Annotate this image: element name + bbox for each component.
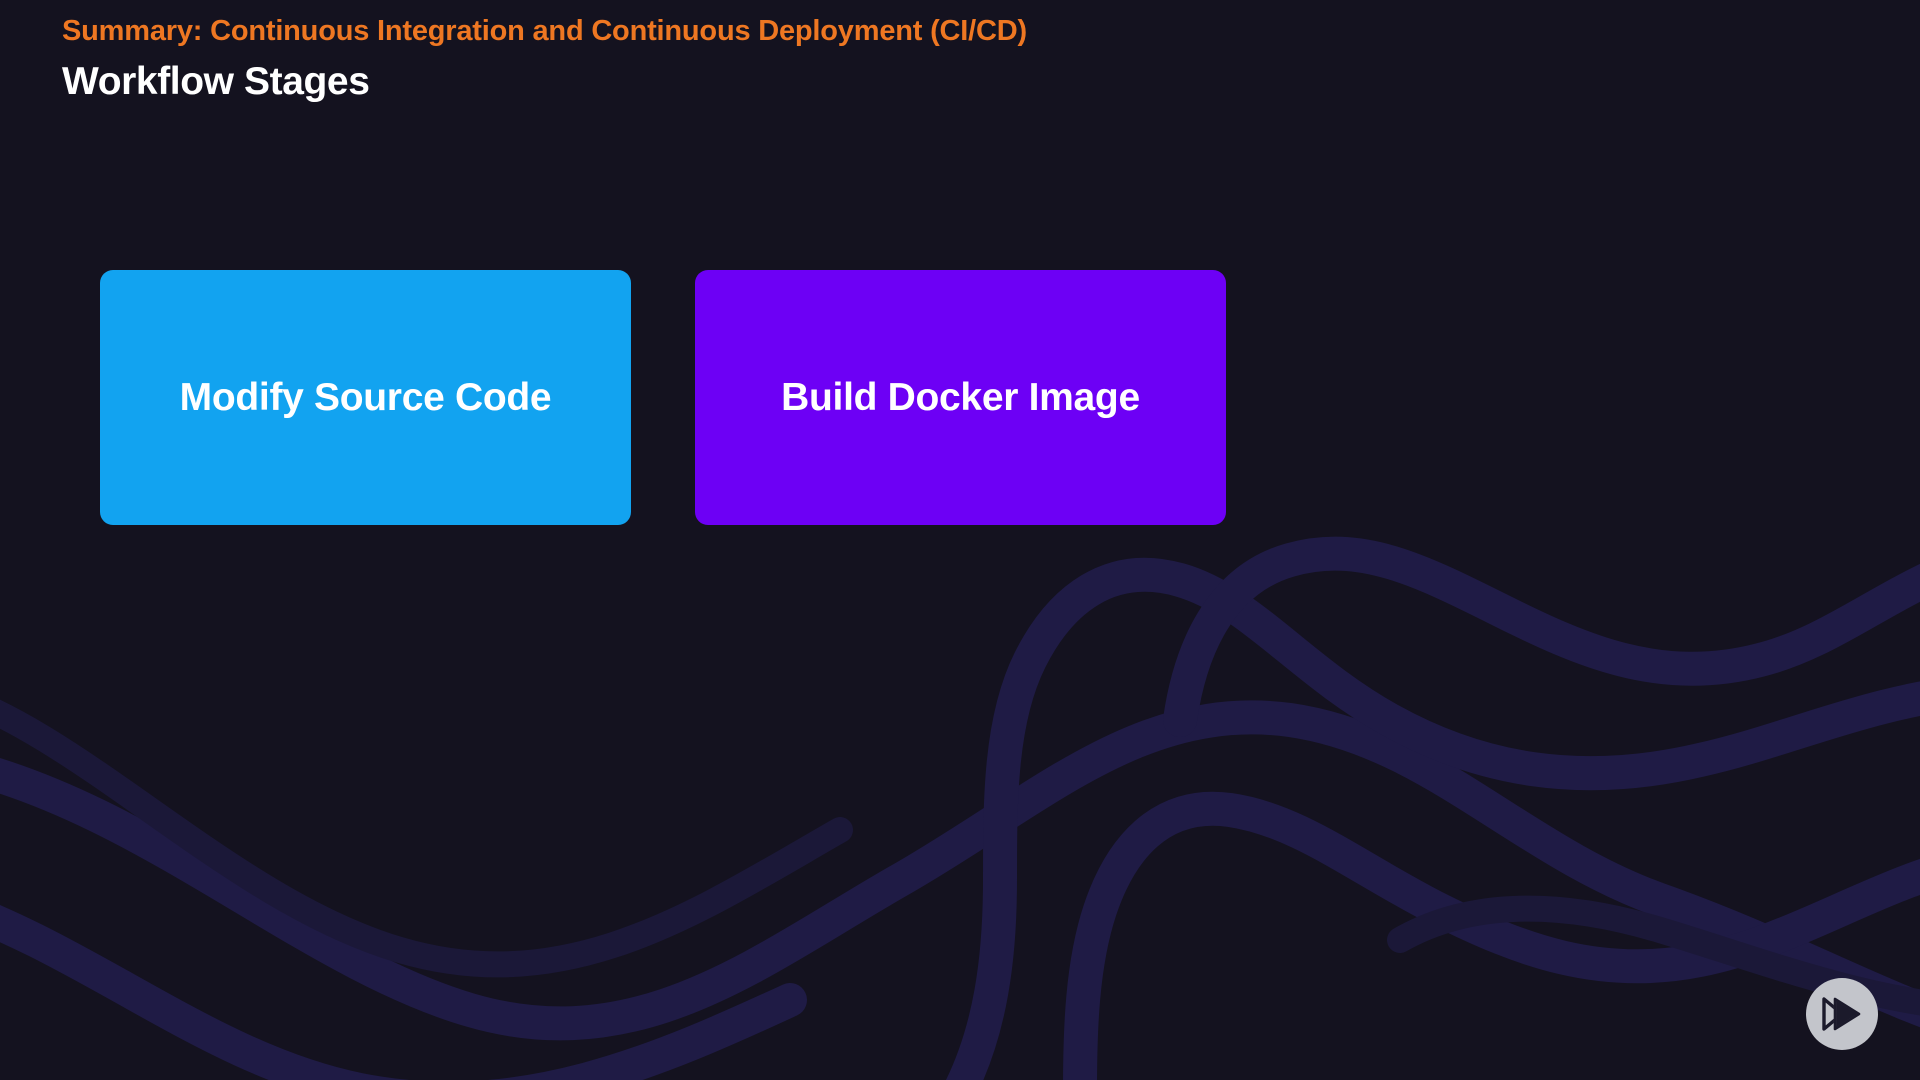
stage-card-build-docker-image[interactable]: Build Docker Image: [695, 270, 1226, 525]
slide-eyebrow-title: Summary: Continuous Integration and Cont…: [62, 14, 1562, 49]
page-title: Workflow Stages: [62, 60, 1562, 105]
slide-header: Summary: Continuous Integration and Cont…: [62, 14, 1562, 105]
workflow-stage-list: Modify Source Code Build Docker Image: [100, 270, 1226, 525]
background-wave-decoration: [0, 0, 1920, 1080]
presentation-slide: Summary: Continuous Integration and Cont…: [0, 0, 1920, 1080]
stage-card-label: Modify Source Code: [180, 374, 552, 422]
stage-card-modify-source-code[interactable]: Modify Source Code: [100, 270, 631, 525]
double-play-glyph: [1820, 994, 1864, 1034]
double-play-logo-icon[interactable]: [1806, 978, 1878, 1050]
stage-card-label: Build Docker Image: [781, 374, 1140, 422]
